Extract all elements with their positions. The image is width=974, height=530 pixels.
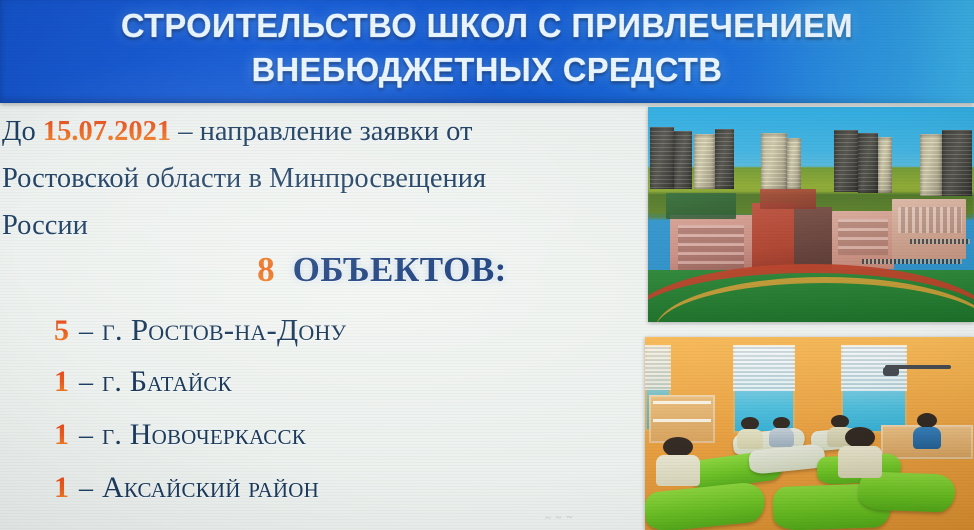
student-head — [917, 413, 937, 428]
student — [845, 427, 875, 475]
list-item: 1 – г. Новочеркасск — [0, 418, 640, 471]
school-roof — [760, 189, 816, 209]
crowd-people — [862, 259, 962, 264]
deadline-paragraph-line-2: Ростовской области в Минпросвещения — [0, 155, 640, 202]
residential-tower — [761, 133, 787, 191]
student — [741, 417, 759, 447]
shelf-board — [653, 419, 711, 422]
school-windows — [678, 225, 744, 271]
school-windows — [838, 219, 888, 255]
city-count: 1 — [54, 365, 70, 399]
student-torso — [737, 429, 763, 449]
student-torso — [656, 455, 699, 485]
student-head — [845, 427, 875, 448]
objects-count: 8 — [257, 250, 275, 289]
residential-tower — [674, 131, 692, 189]
list-item: 1 – г. Батайск — [0, 365, 640, 418]
residential-tower — [920, 134, 942, 196]
slide-title-line-2: ВНЕБЮДЖЕТНЫХ СРЕДСТВ — [7, 43, 966, 87]
window-blind — [645, 345, 671, 390]
city-separator: – — [79, 316, 93, 348]
ceiling-lamp-head — [883, 367, 899, 376]
deadline-text: направление заявки от — [200, 116, 473, 147]
deadline-prefix: До — [2, 116, 36, 147]
residential-tower — [787, 138, 801, 190]
list-item: 5 – г. Ростов-на-Дону — [0, 312, 640, 365]
city-name: г. Новочеркасск — [102, 418, 306, 452]
school-windows — [898, 207, 962, 233]
student-head — [663, 437, 693, 457]
student — [773, 417, 790, 445]
residential-tower — [694, 134, 715, 189]
crowd-people — [910, 239, 970, 244]
student — [917, 413, 937, 447]
photo-classroom — [645, 337, 974, 530]
city-count: 1 — [54, 471, 70, 505]
city-separator: – — [79, 473, 93, 505]
student-torso — [838, 446, 881, 478]
student — [663, 437, 693, 483]
city-count: 5 — [54, 314, 70, 348]
objects-label: ОБЪЕКТОВ: — [293, 250, 507, 289]
slide-title-line-1: СТРОИТЕЛЬСТВО ШКОЛ С ПРИВЛЕЧЕНИЕМ — [7, 0, 966, 43]
school-roof-green — [666, 193, 736, 219]
residential-tower — [715, 129, 734, 189]
slide-body-text: До 15.07.2021 – направление заявки от Ро… — [0, 108, 640, 249]
residential-tower — [858, 133, 878, 193]
classroom-window — [841, 345, 907, 433]
residential-tower — [650, 127, 674, 189]
objects-heading: 8 ОБЪЕКТОВ: — [0, 250, 702, 290]
residential-tower — [942, 130, 972, 196]
city-separator: – — [79, 367, 93, 399]
deadline-paragraph-line-1: До 15.07.2021 – направление заявки от — [0, 108, 640, 155]
deadline-date: 15.07.2021 — [43, 116, 171, 147]
shelf-board — [653, 401, 711, 404]
photo-aerial-school-complex — [648, 107, 974, 322]
residential-tower — [834, 130, 858, 192]
slide-title-banner: СТРОИТЕЛЬСТВО ШКОЛ С ПРИВЛЕЧЕНИЕМ ВНЕБЮД… — [0, 0, 974, 103]
residential-tower — [878, 137, 892, 193]
city-name: г. Ростов-на-Дону — [102, 312, 346, 348]
presentation-slide: СТРОИТЕЛЬСТВО ШКОЛ С ПРИВЛЕЧЕНИЕМ ВНЕБЮД… — [0, 0, 974, 530]
city-breakdown-list: 5 – г. Ростов-на-Дону 1 – г. Батайск 1 –… — [0, 312, 640, 524]
faint-artifact-text: ~ ~ ~ — [545, 512, 574, 525]
deadline-paragraph-line-3: России — [0, 202, 640, 249]
city-separator: – — [79, 420, 93, 452]
window-blind — [733, 345, 795, 391]
student-torso — [769, 428, 793, 446]
city-name: Аксайский район — [102, 471, 319, 505]
student-torso — [913, 427, 942, 449]
city-count: 1 — [54, 418, 70, 452]
city-name: г. Батайск — [102, 365, 232, 399]
deadline-dash: – — [178, 116, 192, 147]
